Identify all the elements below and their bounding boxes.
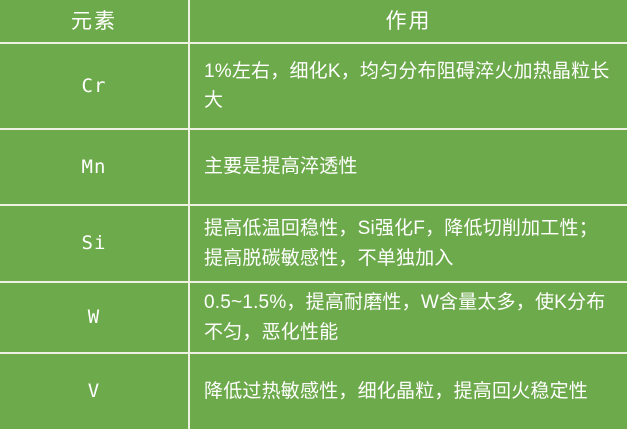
column-header-effect-cell: 作用 (190, 0, 627, 42)
element-cell: Si (0, 206, 190, 281)
effect-description: 降低过热敏感性，细化晶粒，提高回火稳定性 (204, 377, 588, 406)
element-effect-table: 元素 作用 Cr 1%左右，细化K，均匀分布阻碍淬火加热晶粒长大 Mn 主要是提… (0, 0, 627, 429)
element-symbol: Si (82, 234, 107, 253)
table-row: Mn 主要是提高淬透性 (0, 130, 627, 206)
table-row: W 0.5~1.5%，提高耐磨性，W含量太多，使K分布不匀，恶化性能 (0, 283, 627, 354)
table-row: Cr 1%左右，细化K，均匀分布阻碍淬火加热晶粒长大 (0, 44, 627, 130)
element-cell: Cr (0, 44, 190, 128)
table-header-row: 元素 作用 (0, 0, 627, 44)
element-cell: W (0, 283, 190, 352)
effect-description: 提高低温回稳性，Si强化F，降低切削加工性；提高脱碳敏感性，不单独加入 (204, 214, 613, 273)
element-cell: Mn (0, 130, 190, 204)
element-cell: V (0, 354, 190, 429)
element-symbol: V (88, 382, 100, 401)
effect-description: 0.5~1.5%，提高耐磨性，W含量太多，使K分布不匀，恶化性能 (204, 288, 613, 347)
effect-cell: 降低过热敏感性，细化晶粒，提高回火稳定性 (190, 354, 627, 429)
effect-description: 1%左右，细化K，均匀分布阻碍淬火加热晶粒长大 (204, 57, 613, 116)
effect-cell: 1%左右，细化K，均匀分布阻碍淬火加热晶粒长大 (190, 44, 627, 128)
effect-cell: 0.5~1.5%，提高耐磨性，W含量太多，使K分布不匀，恶化性能 (190, 283, 627, 352)
table-row: Si 提高低温回稳性，Si强化F，降低切削加工性；提高脱碳敏感性，不单独加入 (0, 206, 627, 283)
effect-cell: 主要是提高淬透性 (190, 130, 627, 204)
effect-cell: 提高低温回稳性，Si强化F，降低切削加工性；提高脱碳敏感性，不单独加入 (190, 206, 627, 281)
column-header-effect-label: 作用 (386, 11, 432, 32)
effect-description: 主要是提高淬透性 (204, 152, 358, 181)
column-header-element-label: 元素 (71, 11, 117, 32)
element-symbol: Cr (82, 77, 107, 96)
column-header-element-cell: 元素 (0, 0, 190, 42)
table-row: V 降低过热敏感性，细化晶粒，提高回火稳定性 (0, 354, 627, 429)
element-symbol: W (88, 308, 100, 327)
element-symbol: Mn (82, 158, 107, 177)
